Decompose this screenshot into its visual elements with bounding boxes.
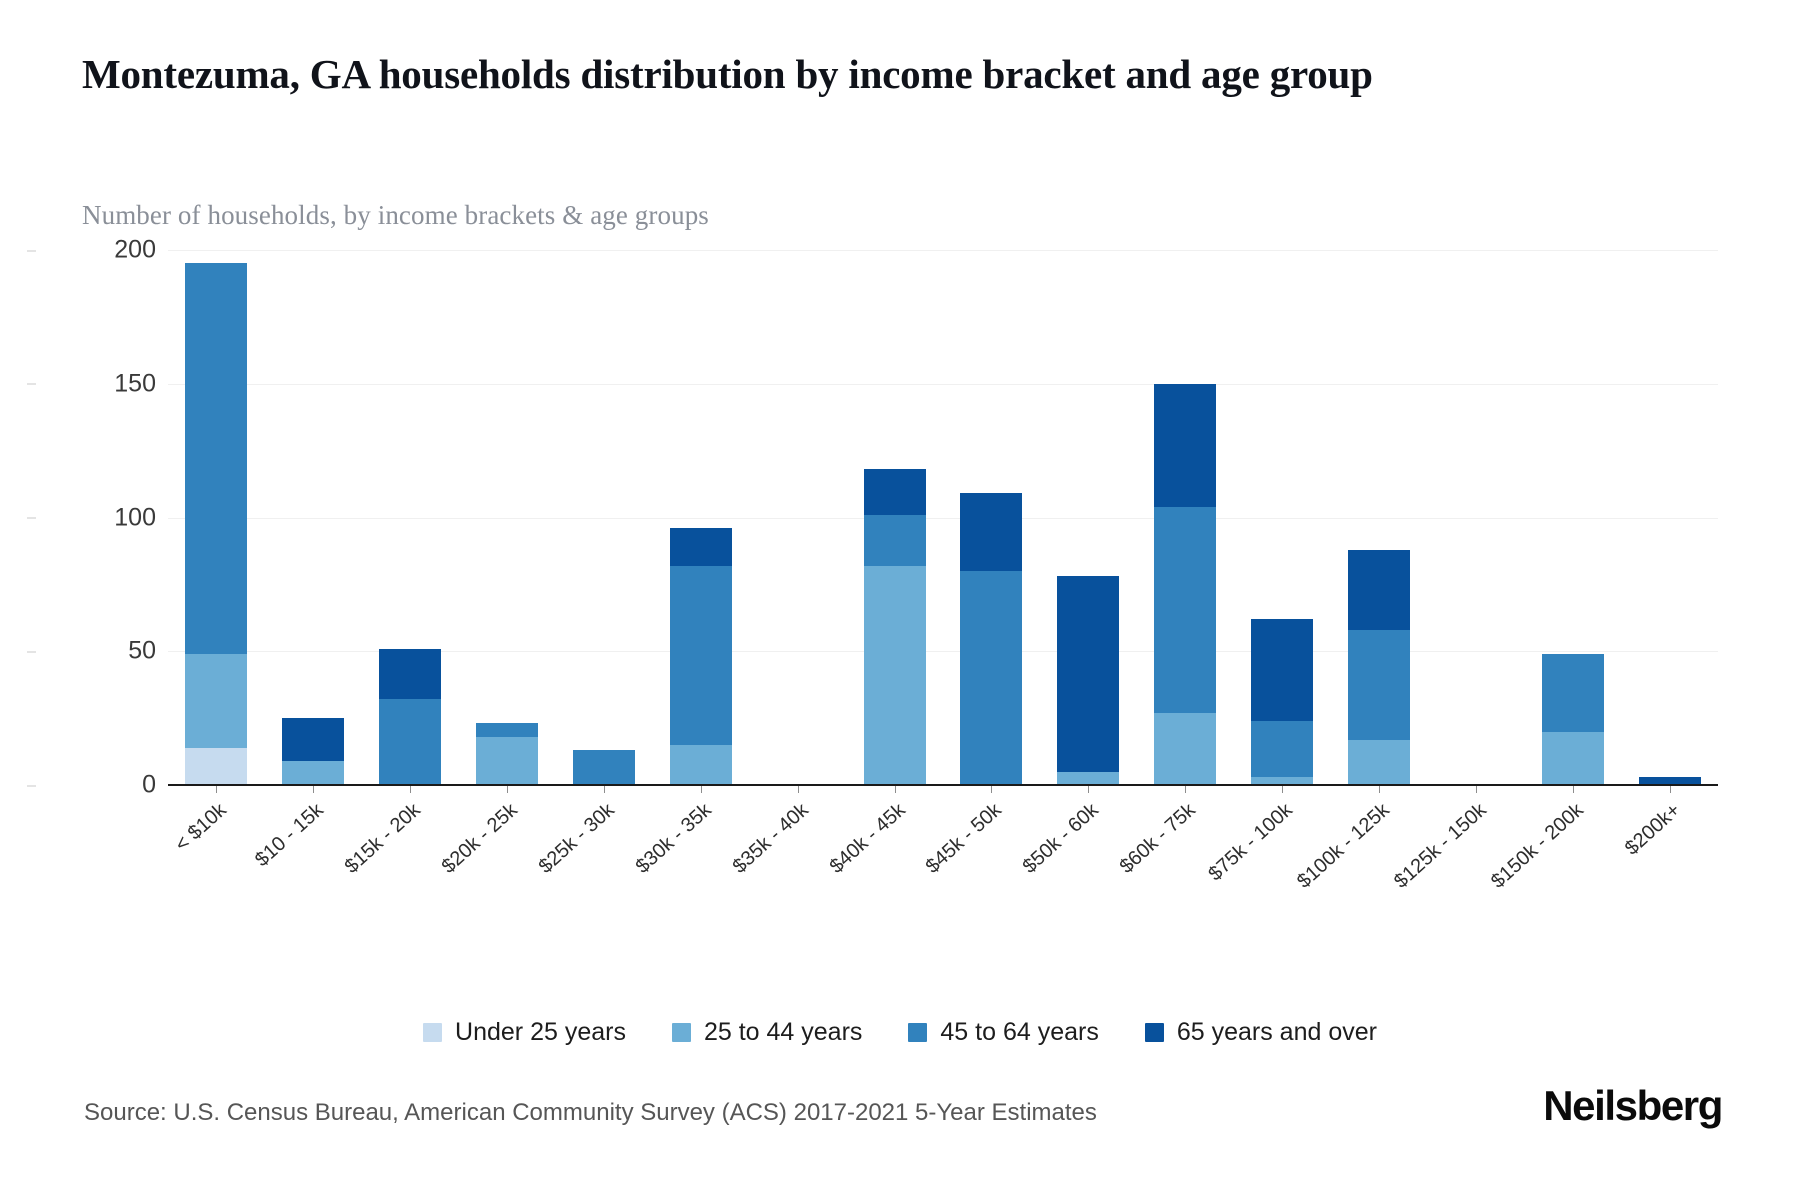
bar-stack[interactable]	[1542, 654, 1604, 785]
x-label-slot: $50k - 60k	[1040, 793, 1137, 903]
bar-segment[interactable]	[1057, 576, 1119, 771]
bar-segment[interactable]	[1057, 772, 1119, 785]
bar-slot[interactable]	[1427, 250, 1524, 785]
bar-segment[interactable]	[1348, 740, 1410, 785]
bar-stack[interactable]	[1348, 550, 1410, 785]
bar-segment[interactable]	[379, 649, 441, 700]
bar-slot[interactable]	[168, 250, 265, 785]
y-axis-tick-label: 0	[36, 771, 156, 800]
legend-label: 45 to 64 years	[940, 1018, 1098, 1047]
y-axis-tick-label: 50	[36, 637, 156, 666]
bar-segment[interactable]	[573, 750, 635, 785]
legend-item[interactable]: 25 to 44 years	[672, 1018, 862, 1047]
bar-stack[interactable]	[573, 750, 635, 785]
bar-segment[interactable]	[1251, 619, 1313, 721]
x-axis-labels: < $10k$10 - 15k$15k - 20k$20k - 25k$25k …	[168, 793, 1718, 903]
x-axis-tick-mark	[410, 785, 411, 793]
x-axis-tick-label: < $10k	[171, 799, 231, 857]
bar-segment[interactable]	[960, 493, 1022, 571]
x-label-slot: $150k - 200k	[1524, 793, 1621, 903]
bar-stack[interactable]	[282, 718, 344, 785]
bar-segment[interactable]	[670, 566, 732, 745]
y-axis-tick-mark	[27, 384, 36, 385]
x-label-slot: $200k+	[1621, 793, 1718, 903]
bar-stack[interactable]	[185, 263, 247, 785]
legend-label: 25 to 44 years	[704, 1018, 862, 1047]
x-axis-tick-mark	[1185, 785, 1186, 793]
x-axis-tick-mark	[313, 785, 314, 793]
plot-area: 050100150200	[168, 250, 1718, 785]
bar-segment[interactable]	[864, 566, 926, 785]
y-axis-tick-mark	[27, 651, 36, 652]
legend: Under 25 years25 to 44 years45 to 64 yea…	[0, 1018, 1800, 1047]
bar-segment[interactable]	[282, 718, 344, 761]
legend-item[interactable]: Under 25 years	[423, 1018, 626, 1047]
bar-segment[interactable]	[1348, 550, 1410, 630]
x-axis-tick-mark	[1282, 785, 1283, 793]
bar-segment[interactable]	[1542, 732, 1604, 786]
bar-segment[interactable]	[185, 263, 247, 654]
y-axis-tick-mark	[27, 785, 36, 786]
bar-slot[interactable]	[749, 250, 846, 785]
bar-segment[interactable]	[476, 737, 538, 785]
bar-segment[interactable]	[864, 469, 926, 514]
x-label-slot: $15k - 20k	[362, 793, 459, 903]
bar-slot[interactable]	[1331, 250, 1428, 785]
legend-swatch-icon	[423, 1023, 442, 1042]
x-label-slot: < $10k	[168, 793, 265, 903]
x-axis-tick-mark	[1670, 785, 1671, 793]
bar-segment[interactable]	[476, 723, 538, 736]
x-label-slot: $10 - 15k	[265, 793, 362, 903]
y-axis-tick-label: 100	[36, 503, 156, 532]
y-axis-tick-mark	[27, 250, 36, 251]
bar-slot[interactable]	[1524, 250, 1621, 785]
bar-stack[interactable]	[476, 723, 538, 785]
bar-segment[interactable]	[670, 745, 732, 785]
bar-slot[interactable]	[265, 250, 362, 785]
x-label-slot: $35k - 40k	[749, 793, 846, 903]
bar-segment[interactable]	[185, 654, 247, 748]
bar-stack[interactable]	[1154, 384, 1216, 785]
x-label-slot: $40k - 45k	[846, 793, 943, 903]
y-axis-tick-label: 150	[36, 369, 156, 398]
bar-stack[interactable]	[864, 469, 926, 785]
bar-slot[interactable]	[1137, 250, 1234, 785]
x-axis-tick-mark	[798, 785, 799, 793]
x-axis-tick-mark	[1088, 785, 1089, 793]
legend-swatch-icon	[1145, 1023, 1164, 1042]
bar-stack[interactable]	[379, 649, 441, 785]
legend-item[interactable]: 45 to 64 years	[908, 1018, 1098, 1047]
bar-segment[interactable]	[1154, 384, 1216, 507]
bar-segment[interactable]	[670, 528, 732, 565]
bar-slot[interactable]	[1621, 250, 1718, 785]
bar-slot[interactable]	[846, 250, 943, 785]
y-axis-tick-mark	[27, 518, 36, 519]
bar-stack[interactable]	[960, 493, 1022, 785]
x-axis-tick-mark	[1573, 785, 1574, 793]
legend-label: Under 25 years	[455, 1018, 626, 1047]
bar-segment[interactable]	[1154, 713, 1216, 785]
bar-group	[168, 250, 1718, 785]
x-axis-tick-mark	[701, 785, 702, 793]
x-axis-tick-mark	[895, 785, 896, 793]
bar-stack[interactable]	[1057, 576, 1119, 785]
bar-segment[interactable]	[1251, 721, 1313, 777]
bar-segment[interactable]	[379, 699, 441, 785]
x-axis-tick-mark	[991, 785, 992, 793]
x-label-slot: $20k - 25k	[459, 793, 556, 903]
bar-slot[interactable]	[1040, 250, 1137, 785]
bar-segment[interactable]	[185, 748, 247, 785]
x-axis-tick-mark	[1476, 785, 1477, 793]
x-label-slot: $30k - 35k	[652, 793, 749, 903]
source-note: Source: U.S. Census Bureau, American Com…	[84, 1099, 1097, 1127]
x-label-slot: $60k - 75k	[1137, 793, 1234, 903]
x-axis-tick-mark	[216, 785, 217, 793]
bar-slot[interactable]	[459, 250, 556, 785]
bar-slot[interactable]	[556, 250, 653, 785]
bar-stack[interactable]	[670, 528, 732, 785]
bar-slot[interactable]	[362, 250, 459, 785]
page-title: Montezuma, GA households distribution by…	[82, 48, 1722, 100]
bar-segment[interactable]	[1348, 630, 1410, 740]
chart-page: Montezuma, GA households distribution by…	[0, 0, 1800, 1200]
bar-stack[interactable]	[1251, 619, 1313, 785]
brand-logo: Neilsberg	[1543, 1082, 1722, 1130]
x-axis-tick-mark	[604, 785, 605, 793]
y-axis-tick-label: 200	[36, 236, 156, 265]
bar-slot[interactable]	[1234, 250, 1331, 785]
x-axis-tick-mark	[1379, 785, 1380, 793]
legend-swatch-icon	[672, 1023, 691, 1042]
bar-slot[interactable]	[943, 250, 1040, 785]
legend-swatch-icon	[908, 1023, 927, 1042]
legend-item[interactable]: 65 years and over	[1145, 1018, 1377, 1047]
bar-slot[interactable]	[652, 250, 749, 785]
bar-segment[interactable]	[282, 761, 344, 785]
bar-segment[interactable]	[1542, 654, 1604, 732]
x-axis-tick-mark	[507, 785, 508, 793]
x-axis-tick-label: $200k+	[1620, 799, 1685, 860]
x-label-slot: $25k - 30k	[556, 793, 653, 903]
bar-segment[interactable]	[1154, 507, 1216, 713]
legend-label: 65 years and over	[1177, 1018, 1377, 1047]
bar-segment[interactable]	[864, 515, 926, 566]
page-subtitle: Number of households, by income brackets…	[82, 200, 1582, 231]
x-label-slot: $45k - 50k	[943, 793, 1040, 903]
bar-segment[interactable]	[960, 571, 1022, 785]
x-axis-line	[168, 784, 1718, 786]
